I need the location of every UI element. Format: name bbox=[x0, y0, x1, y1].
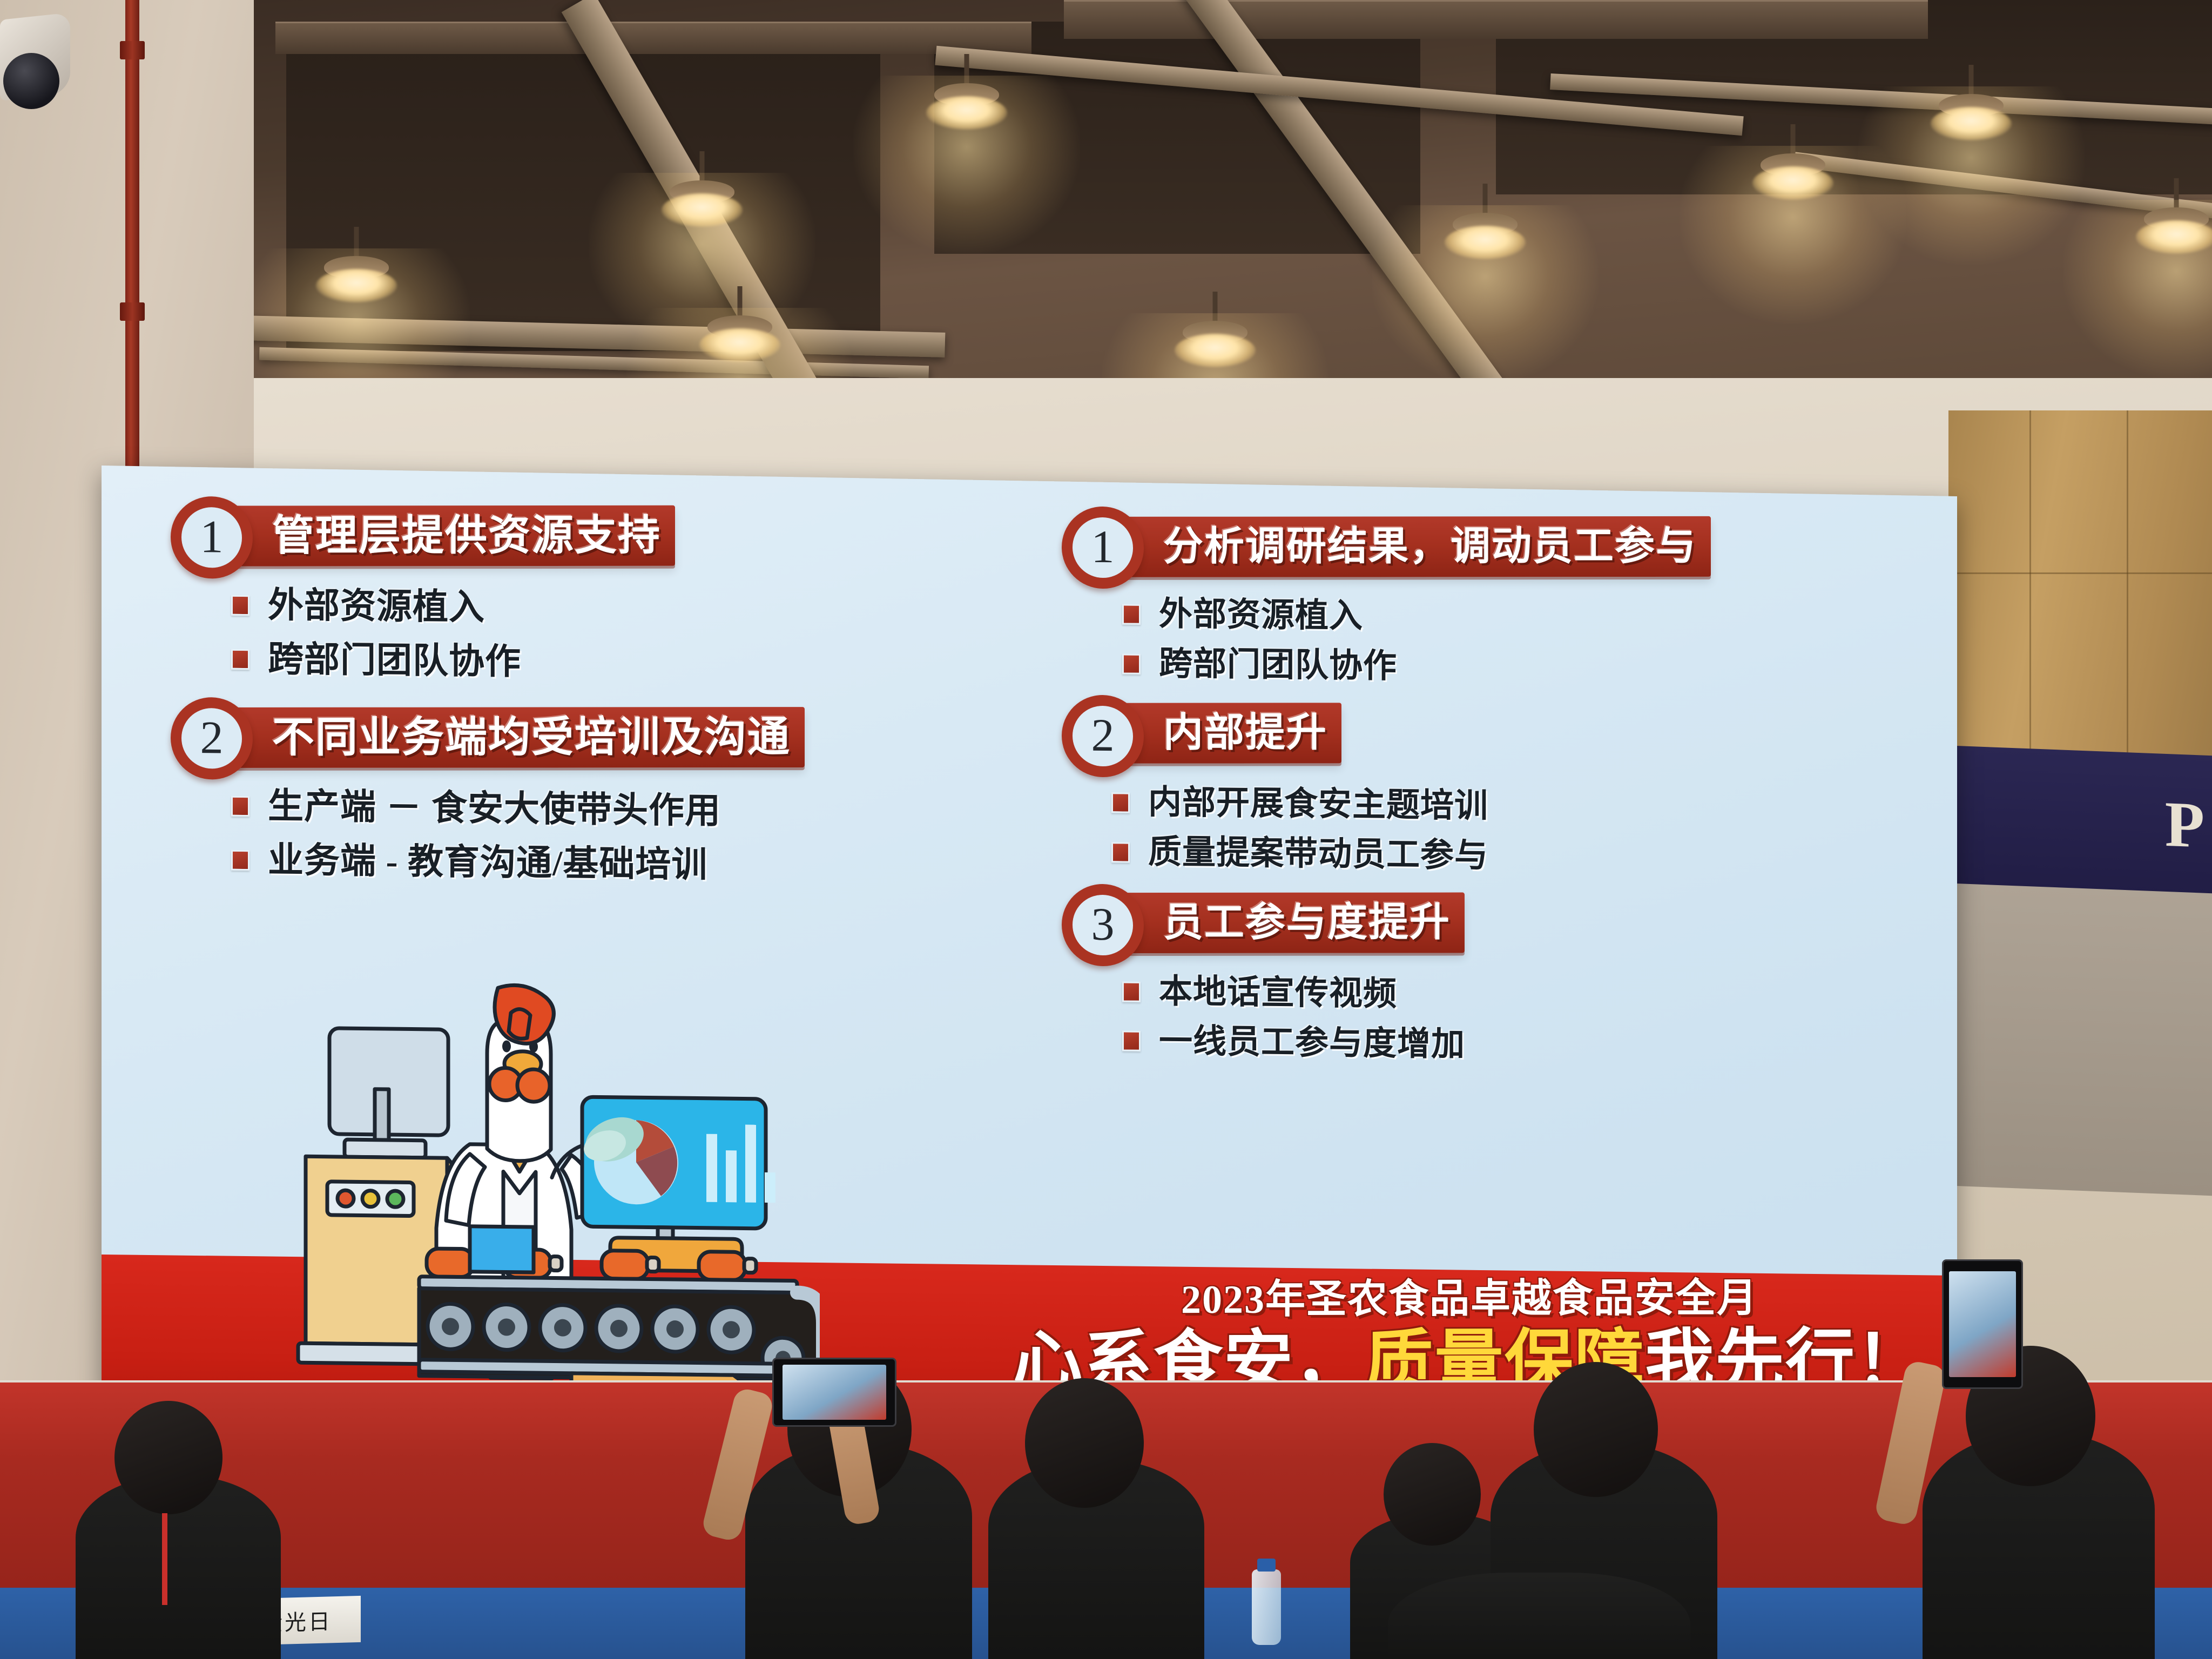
bullet-text: 外部资源植入 bbox=[1159, 597, 1363, 635]
slide-section: 不同业务端均受培训及沟通 2 生产端 － 食安大使带头作用 bbox=[166, 701, 944, 887]
bullet-item: 业务端 - 教育沟通/基础培训 bbox=[231, 841, 944, 887]
water-bottle bbox=[1252, 1569, 1281, 1645]
bullet-square-icon bbox=[1122, 653, 1141, 674]
exhibitor-navy-banner: P bbox=[1953, 746, 2212, 896]
slide-section: 管理层提供资源支持 1 外部资源植入 bbox=[166, 500, 944, 686]
led-presentation-screen: 管理层提供资源支持 1 外部资源植入 bbox=[102, 466, 1957, 1425]
bullet-item: 外部资源植入 bbox=[231, 586, 944, 632]
bullet-text: 生产端 － 食安大使带头作用 bbox=[268, 787, 721, 830]
bullet-item: 外部资源植入 bbox=[1122, 596, 1803, 639]
slogan-line-1: 2023年圣农食品卓越食品安全月 bbox=[1013, 1265, 1926, 1325]
audience-head bbox=[114, 1401, 222, 1514]
slide-column-right: 分析调研结果，调动员工参与 1 外部资源植入 bbox=[1057, 510, 1803, 1085]
ceiling-panel bbox=[286, 49, 880, 351]
bullet-square-icon bbox=[231, 649, 249, 670]
right-beige-wall bbox=[1953, 884, 2212, 1196]
section-number: 3 bbox=[1091, 901, 1115, 947]
bullet-text: 跨部门团队协作 bbox=[1159, 646, 1397, 685]
audience-member bbox=[1388, 1573, 1690, 1659]
bullet-item: 本地话宣传视频 bbox=[1122, 974, 1803, 1017]
lanyard bbox=[162, 1513, 167, 1605]
section-number-badge: 2 bbox=[171, 697, 253, 780]
section-title: 不同业务端均受培训及沟通 bbox=[272, 716, 791, 759]
bullet-text: 内部开展食安主题培训 bbox=[1148, 785, 1488, 825]
slide-section: 内部提升 2 内部开展食安主题培训 bbox=[1057, 699, 1803, 878]
smartphone-recording[interactable] bbox=[772, 1358, 896, 1427]
bullet-item: 跨部门团队协作 bbox=[231, 640, 944, 686]
slide-section: 分析调研结果，调动员工参与 1 外部资源植入 bbox=[1057, 510, 1803, 689]
section-number: 2 bbox=[200, 714, 224, 760]
bullet-list: 外部资源植入 跨部门团队协作 bbox=[166, 585, 944, 686]
bullet-item: 内部开展食安主题培训 bbox=[1111, 785, 1803, 828]
slide-section: 员工参与度提升 3 本地话宣传视频 bbox=[1057, 888, 1803, 1067]
audience-head bbox=[1384, 1443, 1481, 1546]
bullet-item: 跨部门团队协作 bbox=[1122, 646, 1803, 689]
section-title: 内部提升 bbox=[1163, 713, 1327, 753]
section-number-badge: 2 bbox=[1062, 695, 1144, 778]
bullet-item: 质量提案带动员工参与 bbox=[1111, 834, 1803, 878]
bullet-text: 业务端 - 教育沟通/基础培训 bbox=[268, 841, 707, 884]
bullet-list: 内部开展食安主题培训 质量提案带动员工参与 bbox=[1057, 785, 1803, 878]
bullet-text: 一线员工参与度增加 bbox=[1159, 1024, 1465, 1063]
section-title: 员工参与度提升 bbox=[1163, 902, 1451, 942]
ceiling-duct bbox=[275, 22, 1031, 54]
audience-head bbox=[1534, 1362, 1658, 1497]
bullet-square-icon bbox=[1122, 604, 1141, 624]
section-header-bar: 分析调研结果，调动员工参与 bbox=[1103, 516, 1711, 577]
hall-ceiling bbox=[254, 0, 2212, 437]
bullet-square-icon bbox=[1111, 842, 1130, 862]
slide-column-left: 管理层提供资源支持 1 外部资源植入 bbox=[166, 500, 944, 905]
bullet-square-icon bbox=[231, 595, 249, 616]
bullet-list: 生产端 － 食安大使带头作用 业务端 - 教育沟通/基础培训 bbox=[166, 786, 944, 887]
section-number-badge: 1 bbox=[1062, 506, 1144, 589]
smartphone-recording[interactable] bbox=[1942, 1259, 2023, 1389]
section-header-bar: 不同业务端均受培训及沟通 bbox=[212, 707, 805, 768]
campaign-slogan-block: 2023年圣农食品卓越食品安全月 心系食安，质量保障我先行！ bbox=[1013, 1265, 1926, 1400]
chicken-mascot-illustration bbox=[280, 980, 820, 1407]
section-number: 1 bbox=[1091, 523, 1115, 570]
bullet-square-icon bbox=[1122, 981, 1141, 1002]
section-title: 管理层提供资源支持 bbox=[272, 515, 661, 557]
bullet-text: 跨部门团队协作 bbox=[268, 640, 521, 681]
section-number: 1 bbox=[200, 513, 224, 559]
section-number-badge: 1 bbox=[171, 496, 253, 579]
section-title: 分析调研结果，调动员工参与 bbox=[1163, 527, 1697, 567]
bullet-square-icon bbox=[231, 850, 249, 871]
bullet-item: 生产端 － 食安大使带头作用 bbox=[231, 787, 944, 833]
audience-head bbox=[1025, 1378, 1144, 1508]
pipe-collar bbox=[120, 302, 145, 321]
section-header-bar: 管理层提供资源支持 bbox=[212, 505, 675, 567]
pipe-collar bbox=[120, 41, 145, 59]
bullet-text: 外部资源植入 bbox=[268, 586, 485, 627]
section-number-badge: 3 bbox=[1062, 884, 1144, 967]
section-number: 2 bbox=[1091, 712, 1115, 758]
bullet-text: 质量提案带动员工参与 bbox=[1148, 835, 1488, 874]
bullet-item: 一线员工参与度增加 bbox=[1122, 1023, 1803, 1067]
exhibition-hall-scene: P 管理层提供资源支持 1 bbox=[0, 0, 2212, 1659]
bullet-text: 本地话宣传视频 bbox=[1159, 974, 1397, 1013]
bullet-list: 外部资源植入 跨部门团队协作 bbox=[1057, 596, 1803, 689]
bullet-square-icon bbox=[1122, 1031, 1141, 1051]
bullet-square-icon bbox=[231, 796, 249, 817]
bullet-list: 本地话宣传视频 一线员工参与度增加 bbox=[1057, 973, 1803, 1067]
section-header-bar: 员工参与度提升 bbox=[1103, 892, 1465, 953]
security-camera-dome bbox=[3, 53, 59, 109]
navy-banner-text: P bbox=[2165, 787, 2207, 863]
bullet-square-icon bbox=[1111, 793, 1130, 813]
